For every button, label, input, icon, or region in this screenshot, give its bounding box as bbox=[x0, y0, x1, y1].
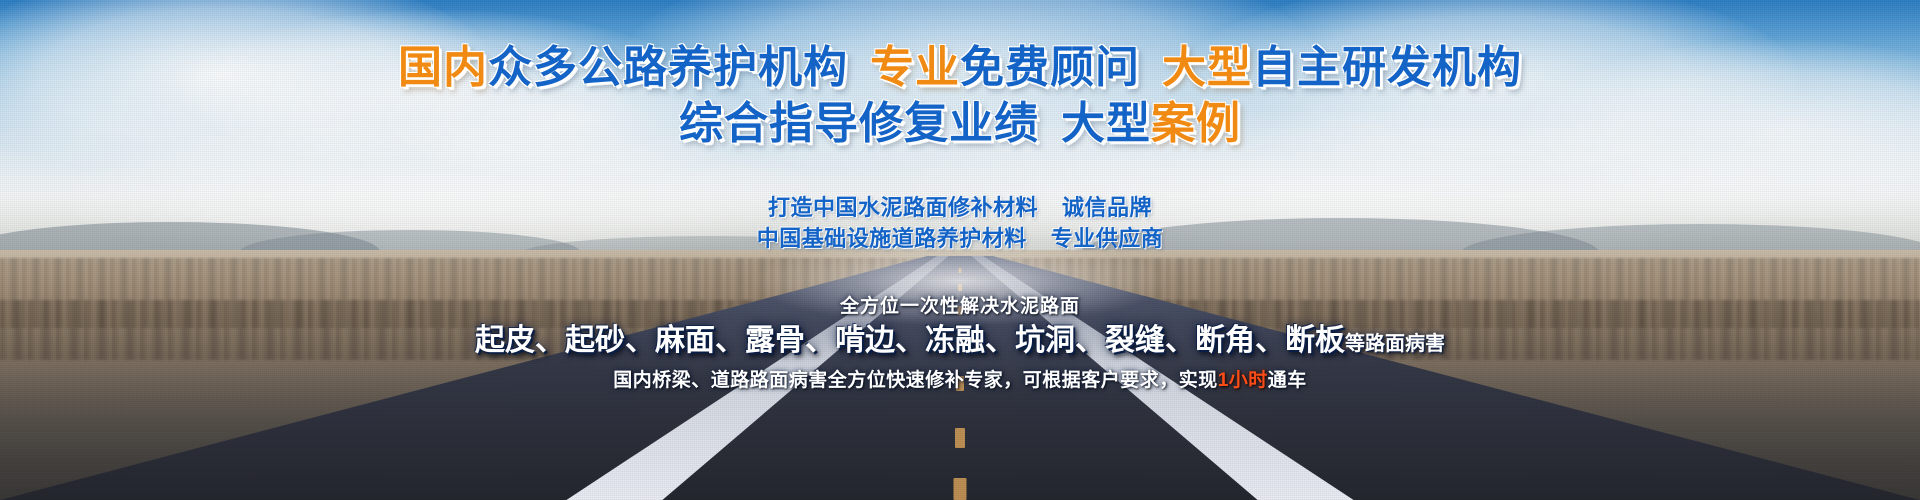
headline-seg-free-consult: 免费顾问 bbox=[960, 43, 1140, 92]
bottom-closing-b: 通车 bbox=[1268, 370, 1307, 391]
headline-seg-repair-record: 综合指导修复业绩 bbox=[679, 99, 1039, 148]
banner-content: 国内众多公路养护机构专业免费顾问大型自主研发机构 综合指导修复业绩大型案例 打造… bbox=[0, 0, 1920, 500]
subheadline-seg-infrastructure: 中国基础设施道路养护材料 bbox=[757, 226, 1027, 251]
headline-seg-large-scale: 大型 bbox=[1162, 43, 1252, 92]
subheadline-seg-brand: 诚信品牌 bbox=[1062, 195, 1152, 220]
headline-seg-domestic: 国内 bbox=[398, 43, 488, 92]
bottom-lead-text: 全方位一次性解决水泥路面 bbox=[0, 294, 1920, 319]
headline-line-1: 国内众多公路养护机构专业免费顾问大型自主研发机构 bbox=[0, 40, 1920, 96]
subheadline-block: 打造中国水泥路面修补材料诚信品牌 中国基础设施道路养护材料专业供应商 bbox=[0, 192, 1920, 254]
bottom-block: 全方位一次性解决水泥路面 起皮、起砂、麻面、露骨、啃边、冻融、坑洞、裂缝、断角、… bbox=[0, 294, 1920, 395]
headline-seg-professional: 专业 bbox=[870, 43, 960, 92]
promo-banner: 国内众多公路养护机构专业免费顾问大型自主研发机构 综合指导修复业绩大型案例 打造… bbox=[0, 0, 1920, 500]
bottom-damage-list: 起皮、起砂、麻面、露骨、啃边、冻融、坑洞、裂缝、断角、断板 bbox=[475, 324, 1345, 357]
bottom-closing-highlight: 1小时 bbox=[1218, 370, 1268, 391]
headline-block: 国内众多公路养护机构专业免费顾问大型自主研发机构 综合指导修复业绩大型案例 bbox=[0, 40, 1920, 152]
bottom-damage-line: 起皮、起砂、麻面、露骨、啃边、冻融、坑洞、裂缝、断角、断板等路面病害 bbox=[0, 321, 1920, 364]
subheadline-line-1: 打造中国水泥路面修补材料诚信品牌 bbox=[0, 192, 1920, 223]
subheadline-seg-supplier: 专业供应商 bbox=[1051, 226, 1164, 251]
bottom-closing-line: 国内桥梁、道路路面病害全方位快速修补专家，可根据客户要求，实现1小时通车 bbox=[0, 367, 1920, 395]
headline-seg-rnd: 自主研发机构 bbox=[1252, 43, 1522, 92]
headline-seg-large: 大型 bbox=[1061, 99, 1151, 148]
headline-seg-agencies: 众多公路养护机构 bbox=[488, 43, 848, 92]
subheadline-seg-material: 打造中国水泥路面修补材料 bbox=[768, 195, 1038, 220]
headline-line-2: 综合指导修复业绩大型案例 bbox=[0, 96, 1920, 152]
bottom-damage-tail: 等路面病害 bbox=[1345, 333, 1445, 355]
subheadline-line-2: 中国基础设施道路养护材料专业供应商 bbox=[0, 223, 1920, 254]
headline-seg-cases: 案例 bbox=[1151, 99, 1241, 148]
bottom-closing-a: 国内桥梁、道路路面病害全方位快速修补专家，可根据客户要求，实现 bbox=[613, 370, 1218, 391]
